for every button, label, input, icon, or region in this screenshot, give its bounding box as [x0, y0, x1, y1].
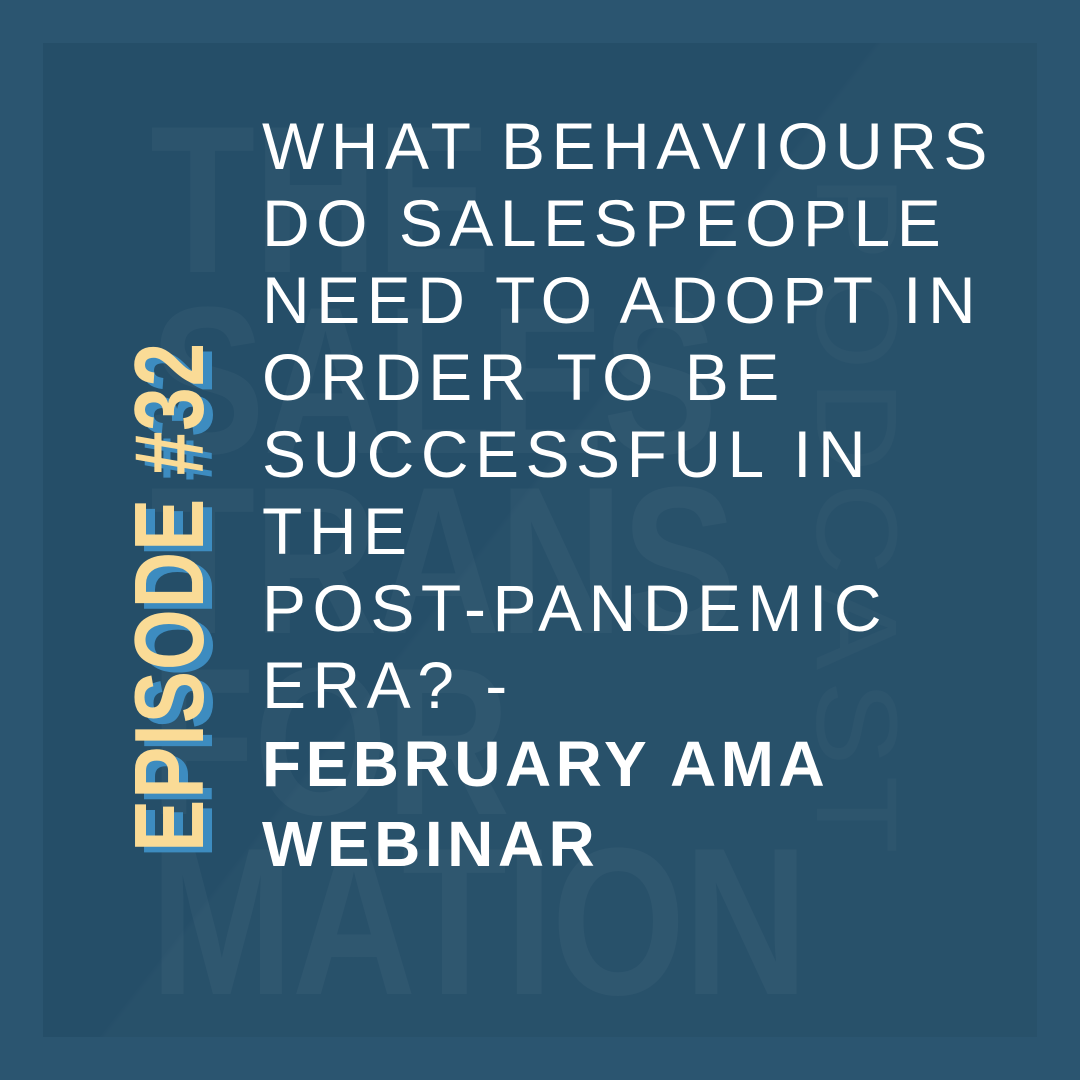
- episode-badge: EPISODE #32: [119, 100, 219, 852]
- episode-number-label: EPISODE #32: [120, 342, 218, 852]
- title-line: ERA? -: [262, 647, 1052, 724]
- title-line: SUCCESSFUL IN: [262, 416, 1052, 493]
- episode-question-title: WHAT BEHAVIOURSDO SALESPEOPLENEED TO ADO…: [262, 108, 1052, 724]
- episode-badge-rotator: EPISODE #32: [119, 100, 219, 852]
- title-line: POST-PANDEMIC: [262, 570, 1052, 647]
- subtitle-line: FEBRUARY AMA: [262, 724, 1052, 804]
- title-line: THE: [262, 493, 1052, 570]
- subtitle-line: WEBINAR: [262, 804, 1052, 884]
- episode-subtitle: FEBRUARY AMAWEBINAR: [262, 724, 1052, 884]
- episode-title-block: WHAT BEHAVIOURSDO SALESPEOPLENEED TO ADO…: [262, 108, 1052, 884]
- title-line: ORDER TO BE: [262, 339, 1052, 416]
- podcast-episode-cover: THE SALES TRANS FOR MATION PODCAST EPISO…: [0, 0, 1080, 1080]
- title-line: WHAT BEHAVIOURS: [262, 108, 1052, 185]
- title-line: DO SALESPEOPLE: [262, 185, 1052, 262]
- title-line: NEED TO ADOPT IN: [262, 262, 1052, 339]
